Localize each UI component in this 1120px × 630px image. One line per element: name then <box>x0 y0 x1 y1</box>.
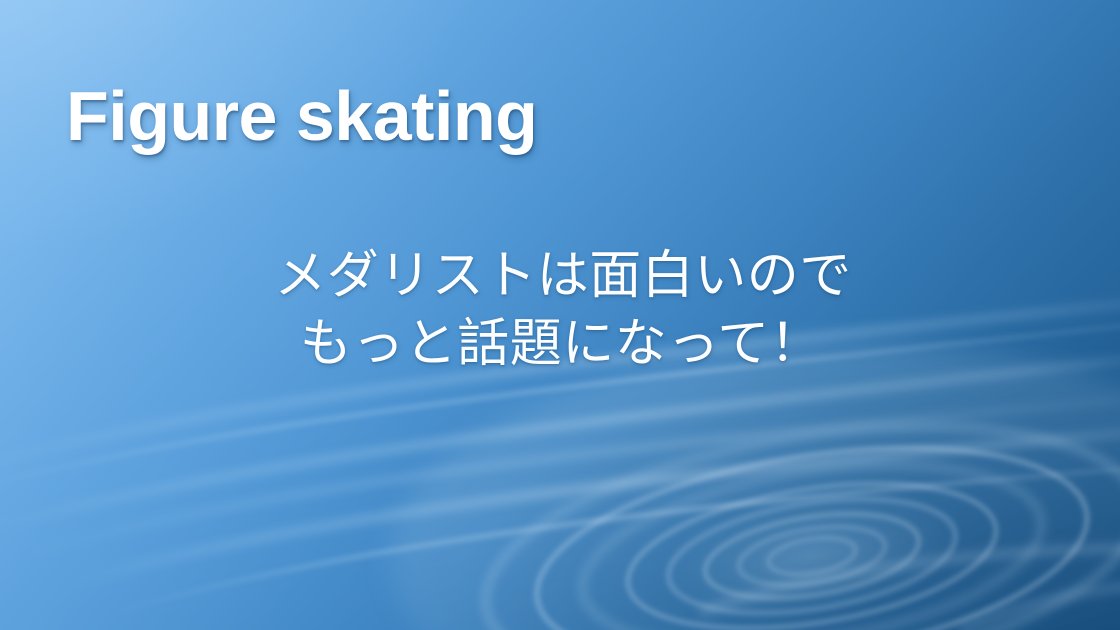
slide-body-text: メダリストは面白いので もっと話題になって！ <box>0 243 1120 378</box>
slide-body-line-1: メダリストは面白いので <box>6 243 1120 311</box>
slide-body-line-2: もっと話題になって！ <box>2 311 1120 379</box>
presentation-slide: Figure skating メダリストは面白いので もっと話題になって！ <box>0 0 1120 630</box>
slide-title: Figure skating <box>66 79 537 155</box>
